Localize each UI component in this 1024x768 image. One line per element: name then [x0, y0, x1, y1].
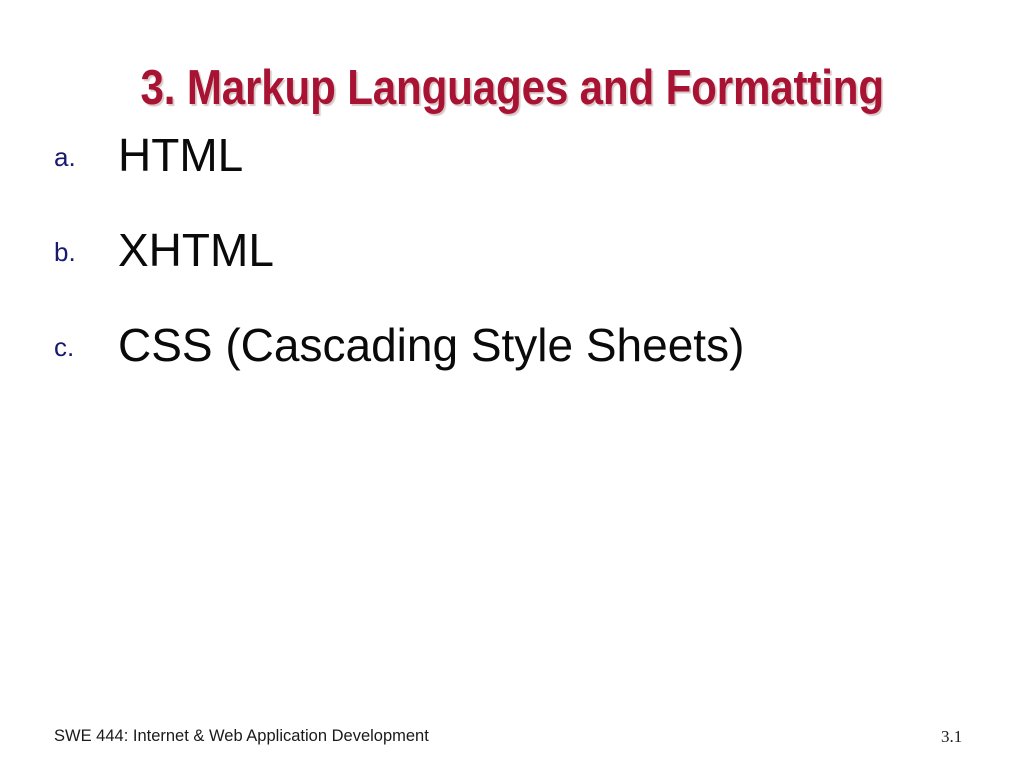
footer-course-label: SWE 444: Internet & Web Application Deve… — [54, 727, 429, 747]
list-item-label: CSS (Cascading Style Sheets) — [118, 318, 744, 373]
slide-footer: SWE 444: Internet & Web Application Deve… — [0, 708, 1024, 768]
list-item: a. HTML — [0, 118, 1024, 213]
slide-number: 3.1 — [941, 727, 962, 747]
list-item: c. CSS (Cascading Style Sheets) — [0, 308, 1024, 403]
list-item-marker: c. — [54, 334, 106, 360]
presentation-slide: 3. Markup Languages and Formatting a. HT… — [0, 0, 1024, 768]
list-item-marker: b. — [54, 239, 106, 265]
content-list: a. HTML b. XHTML c. CSS (Cascading Style… — [0, 118, 1024, 403]
list-item-label: XHTML — [118, 223, 274, 278]
list-item: b. XHTML — [0, 213, 1024, 308]
list-item-marker: a. — [54, 144, 106, 170]
page-title: 3. Markup Languages and Formatting — [140, 63, 883, 114]
list-item-label: HTML — [118, 128, 243, 183]
